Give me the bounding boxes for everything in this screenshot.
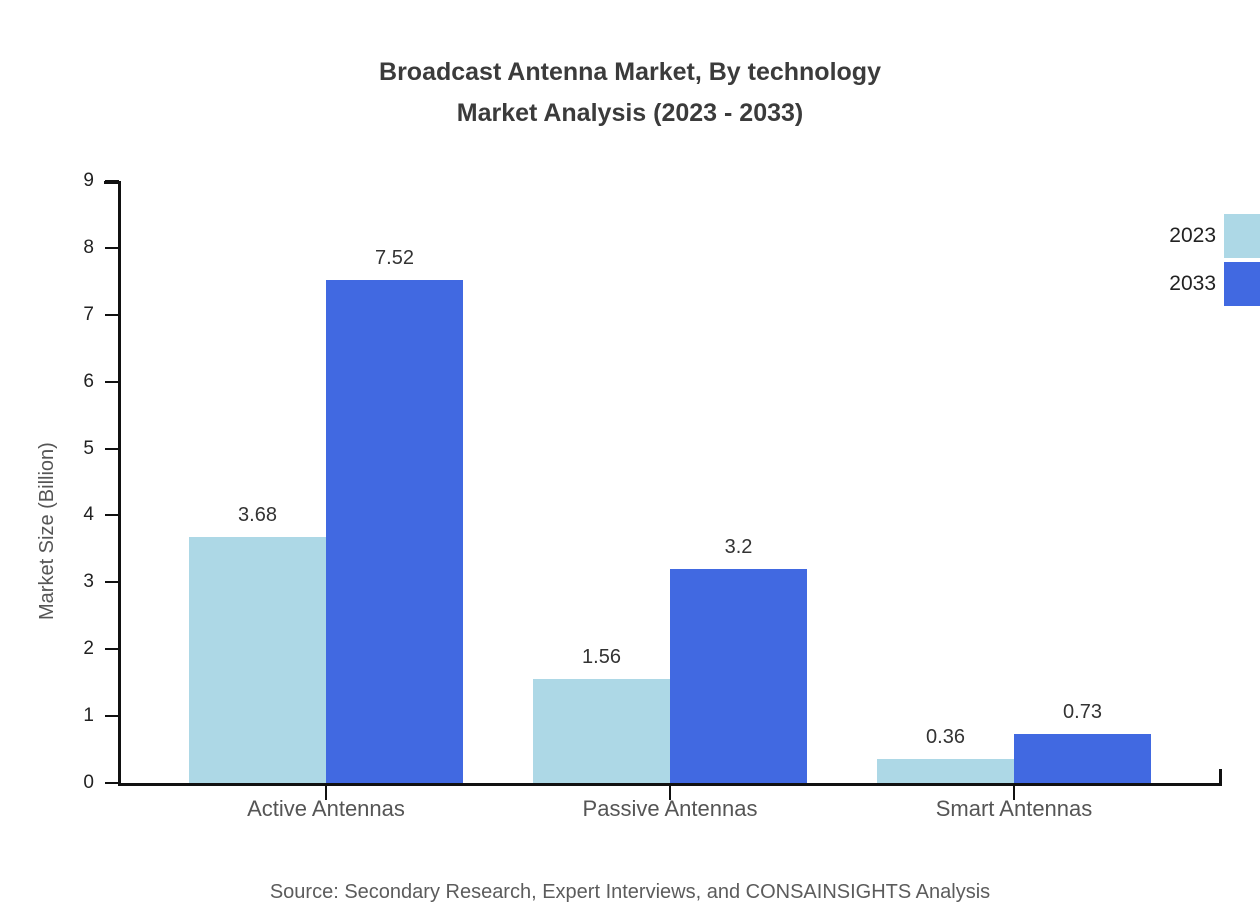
y-tick-5 (105, 448, 119, 450)
y-tick-label-0: 0 (14, 773, 94, 792)
bar-value-label-2023-active-antennas: 3.68 (178, 505, 338, 525)
legend: 2023 2033 (1100, 214, 1260, 314)
x-tick-label-passive-antennas: Passive Antennas (500, 794, 840, 824)
bar-2033-smart-antennas[interactable] (1014, 734, 1151, 783)
legend-label-2023: 2023 (1100, 224, 1216, 248)
y-tick-0 (105, 782, 119, 784)
y-tick-label-8: 8 (14, 238, 94, 257)
y-tick-4 (105, 514, 119, 516)
bar-value-label-2033-active-antennas: 7.52 (315, 248, 475, 268)
bar-2023-active-antennas[interactable] (189, 537, 326, 783)
y-axis-title: Market Size (Billion) (36, 442, 59, 620)
y-tick-8 (105, 247, 119, 249)
legend-swatch-2023 (1224, 214, 1260, 258)
y-tick-2 (105, 648, 119, 650)
bar-value-label-2023-smart-antennas: 0.36 (866, 727, 1026, 747)
legend-item-2033[interactable]: 2033 (1100, 262, 1260, 308)
chart-title: Broadcast Antenna Market, By technology … (0, 52, 1260, 134)
y-tick-label-5: 5 (14, 439, 94, 458)
bar-2023-passive-antennas[interactable] (533, 679, 670, 783)
chart-title-line-1: Broadcast Antenna Market, By technology (0, 52, 1260, 93)
y-tick-label-9: 9 (14, 171, 94, 190)
y-tick-label-3: 3 (14, 572, 94, 591)
legend-label-2033: 2033 (1100, 272, 1216, 296)
y-tick-7 (105, 314, 119, 316)
y-tick-label-1: 1 (14, 706, 94, 725)
y-tick-label-4: 4 (14, 505, 94, 524)
chart-title-line-2: Market Analysis (2023 - 2033) (0, 93, 1260, 134)
bar-2033-active-antennas[interactable] (326, 280, 463, 783)
y-tick-3 (105, 581, 119, 583)
y-tick-label-7: 7 (14, 305, 94, 324)
bar-value-label-2033-passive-antennas: 3.2 (659, 537, 819, 557)
x-axis-right-cap (1219, 769, 1222, 786)
bar-2023-smart-antennas[interactable] (877, 759, 1014, 783)
x-tick-label-active-antennas: Active Antennas (156, 794, 496, 824)
y-tick-6 (105, 381, 119, 383)
y-tick-1 (105, 715, 119, 717)
y-tick-label-2: 2 (14, 639, 94, 658)
legend-swatch-2033 (1224, 262, 1260, 306)
source-note: Source: Secondary Research, Expert Inter… (0, 878, 1260, 906)
bar-value-label-2033-smart-antennas: 0.73 (1003, 702, 1163, 722)
bar-value-label-2023-passive-antennas: 1.56 (522, 647, 682, 667)
legend-item-2023[interactable]: 2023 (1100, 214, 1260, 260)
y-axis-line (118, 181, 121, 786)
bar-2033-passive-antennas[interactable] (670, 569, 807, 783)
y-tick-9 (105, 180, 119, 182)
chart-container: Broadcast Antenna Market, By technology … (0, 0, 1260, 920)
y-tick-label-6: 6 (14, 372, 94, 391)
x-tick-label-smart-antennas: Smart Antennas (844, 794, 1184, 824)
